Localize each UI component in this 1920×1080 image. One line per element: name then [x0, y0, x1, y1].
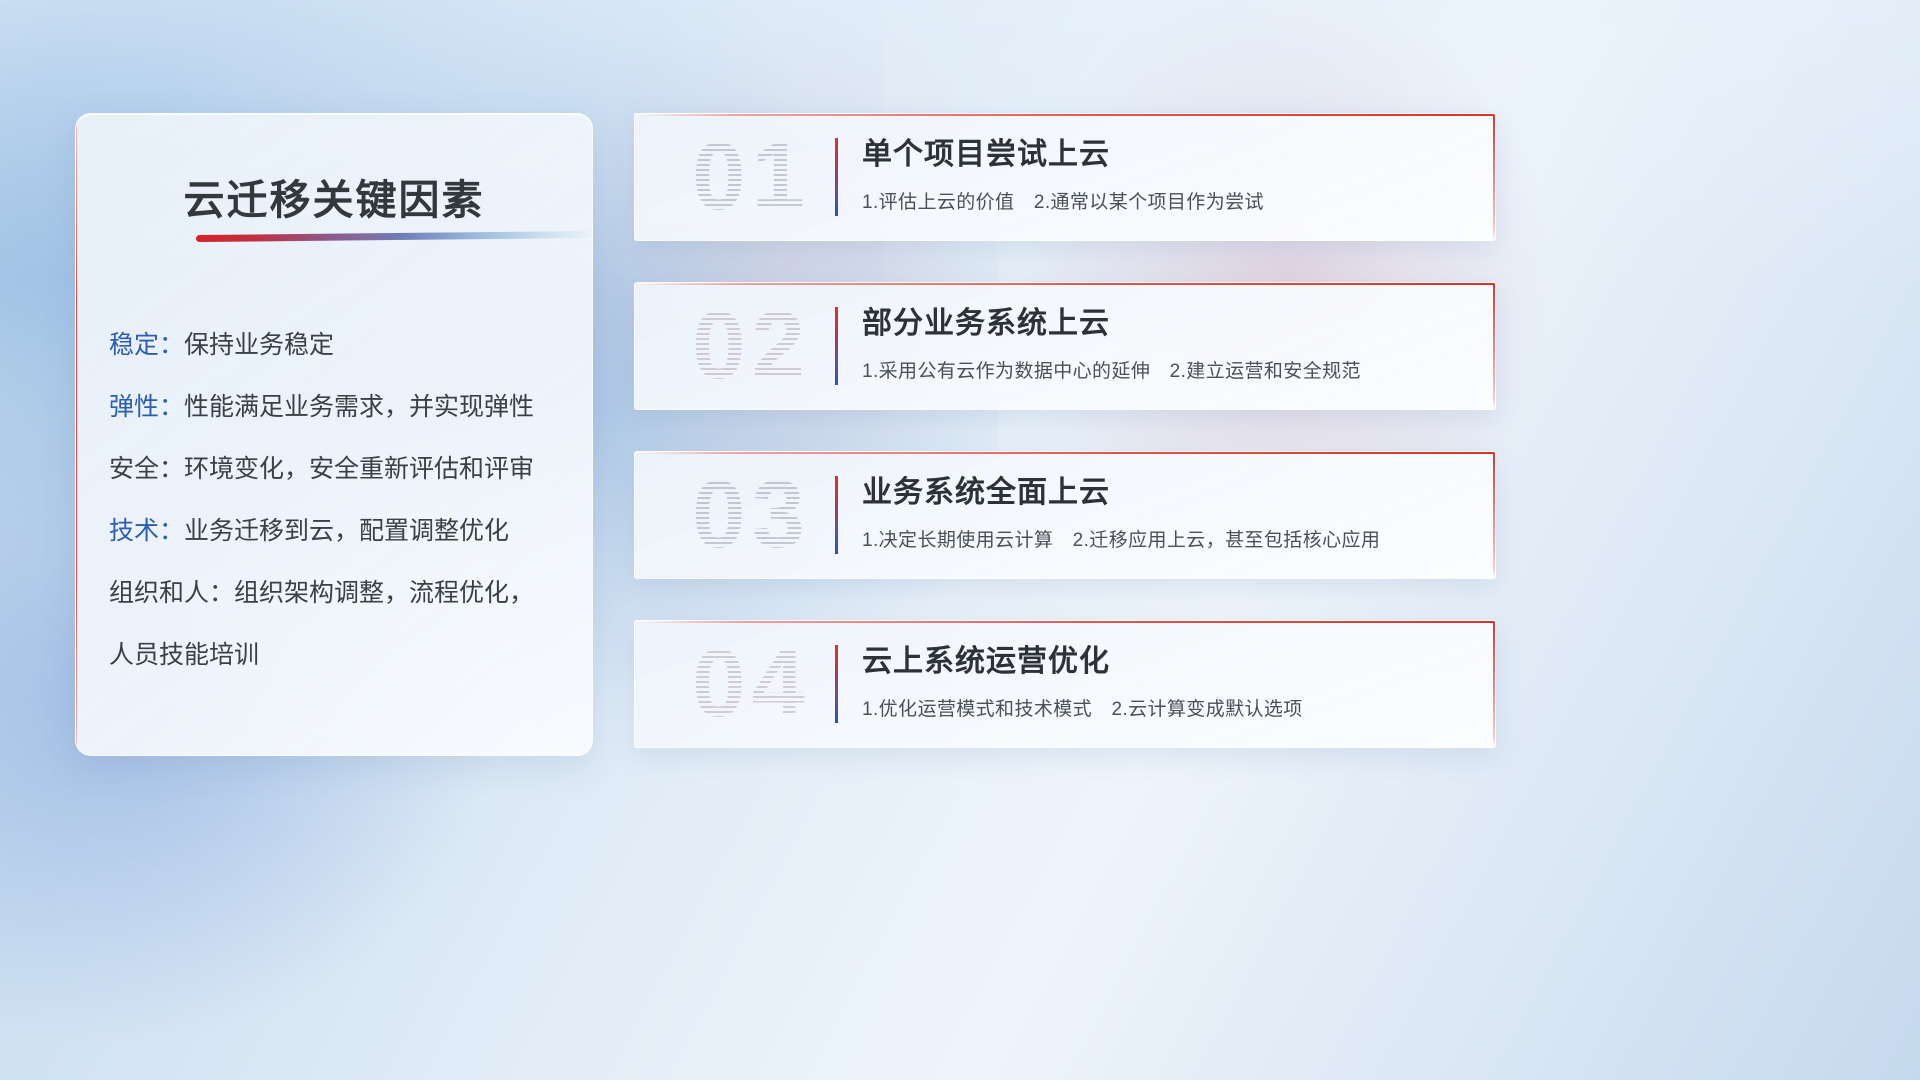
stage-subtitle: 1.采用公有云作为数据中心的延伸 2.建立运营和安全规范 — [862, 356, 1471, 383]
stage-number-watermark: 02 — [659, 294, 844, 398]
key-factors-panel: 云迁移关键因素 稳定：保持业务稳定弹性：性能满足业务需求，并实现弹性安全：环境变… — [75, 113, 593, 756]
stage-number-glyph: 03 — [692, 467, 811, 563]
stage-card-body: 部分业务系统上云1.采用公有云作为数据中心的延伸 2.建立运营和安全规范 — [862, 305, 1471, 383]
stage-number-watermark: 04 — [659, 632, 844, 736]
stage-title: 云上系统运营优化 — [862, 643, 1471, 681]
key-factor-label: 技术： — [109, 517, 184, 545]
stage-divider-bar — [835, 645, 838, 723]
stage-subtitle: 1.评估上云的价值 2.通常以某个项目作为尝试 — [862, 187, 1471, 214]
stage-number-glyph: 01 — [692, 129, 811, 225]
card-right-accent — [1493, 621, 1495, 747]
migration-stage-card[interactable]: 03业务系统全面上云1.决定长期使用云计算 2.迁移应用上云，甚至包括核心应用 — [634, 451, 1496, 579]
slide-stage: 云迁移关键因素 稳定：保持业务稳定弹性：性能满足业务需求，并实现弹性安全：环境变… — [0, 0, 1920, 1080]
key-factors-list: 稳定：保持业务稳定弹性：性能满足业务需求，并实现弹性安全：环境变化，安全重新评估… — [109, 314, 572, 686]
stage-title: 部分业务系统上云 — [862, 305, 1471, 343]
stage-divider-bar — [835, 138, 838, 216]
key-factor-text: 业务迁移到云，配置调整优化 — [184, 517, 509, 545]
key-factor-label: 弹性： — [109, 393, 184, 421]
card-right-accent — [1493, 283, 1495, 409]
key-factor-text: 组织架构调整，流程优化， — [234, 579, 534, 607]
stage-subtitle: 1.决定长期使用云计算 2.迁移应用上云，甚至包括核心应用 — [862, 525, 1471, 552]
stage-divider-bar — [835, 476, 838, 554]
stage-number-glyph: 04 — [692, 636, 811, 732]
key-factor-text: 环境变化，安全重新评估和评审 — [184, 455, 534, 483]
stage-divider-bar — [835, 307, 838, 385]
key-factor-row: 安全：环境变化，安全重新评估和评审 — [109, 438, 572, 500]
stage-title: 业务系统全面上云 — [862, 474, 1471, 512]
migration-stage-card[interactable]: 01单个项目尝试上云1.评估上云的价值 2.通常以某个项目作为尝试 — [634, 113, 1496, 241]
stage-card-body: 业务系统全面上云1.决定长期使用云计算 2.迁移应用上云，甚至包括核心应用 — [862, 474, 1471, 552]
stage-subtitle: 1.优化运营模式和技术模式 2.云计算变成默认选项 — [862, 694, 1471, 721]
key-factor-text: 性能满足业务需求，并实现弹性 — [184, 393, 534, 421]
migration-stage-cards: 01单个项目尝试上云1.评估上云的价值 2.通常以某个项目作为尝试02部分业务系… — [634, 113, 1496, 789]
stage-card-body: 云上系统运营优化1.优化运营模式和技术模式 2.云计算变成默认选项 — [862, 643, 1471, 721]
key-factor-label: 稳定： — [109, 331, 184, 359]
key-factor-row: 稳定：保持业务稳定 — [109, 314, 572, 376]
key-factor-text: 保持业务稳定 — [184, 331, 334, 359]
stage-number-glyph: 02 — [692, 298, 811, 394]
card-right-accent — [1493, 452, 1495, 578]
key-factor-row: 技术：业务迁移到云，配置调整优化 — [109, 500, 572, 562]
key-factor-row: 人员技能培训 — [109, 624, 572, 686]
key-factor-row: 弹性：性能满足业务需求，并实现弹性 — [109, 376, 572, 438]
key-factor-text: 人员技能培训 — [109, 641, 259, 669]
stage-card-body: 单个项目尝试上云1.评估上云的价值 2.通常以某个项目作为尝试 — [862, 136, 1471, 214]
stage-title: 单个项目尝试上云 — [862, 136, 1471, 174]
panel-title: 云迁移关键因素 — [76, 166, 592, 226]
key-factor-row: 组织和人：组织架构调整，流程优化， — [109, 562, 572, 624]
migration-stage-card[interactable]: 04云上系统运营优化1.优化运营模式和技术模式 2.云计算变成默认选项 — [634, 620, 1496, 748]
key-factor-label: 组织和人： — [109, 579, 234, 607]
title-underline-rule — [196, 231, 593, 242]
card-right-accent — [1493, 114, 1495, 240]
key-factor-label: 安全： — [109, 455, 184, 483]
migration-stage-card[interactable]: 02部分业务系统上云1.采用公有云作为数据中心的延伸 2.建立运营和安全规范 — [634, 282, 1496, 410]
stage-number-watermark: 03 — [659, 463, 844, 567]
stage-number-watermark: 01 — [659, 125, 844, 229]
